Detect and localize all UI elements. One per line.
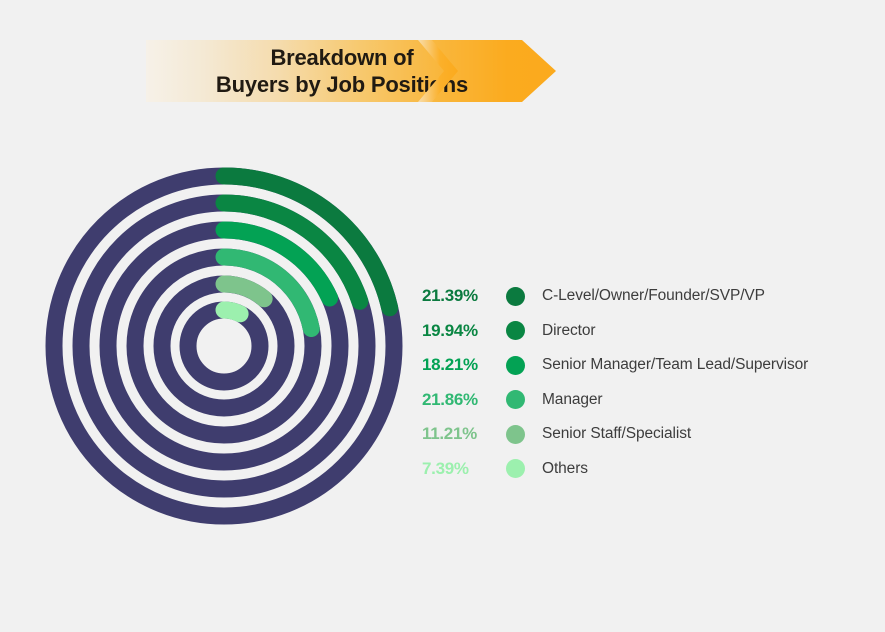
double-chevron-right-icon: [418, 40, 458, 102]
legend-percentage: 11.21%: [422, 424, 498, 444]
legend-percentage: 18.21%: [422, 355, 498, 375]
radial-track-5: [188, 310, 260, 382]
chevron-shape: [418, 40, 458, 102]
legend-item: 18.21%Senior Manager/Team Lead/Superviso…: [422, 348, 872, 383]
legend-percentage: 21.86%: [422, 390, 498, 410]
title-banner: Breakdown of Buyers by Job Positions: [146, 40, 556, 102]
legend-color-dot-icon: [506, 287, 525, 306]
legend-percentage: 7.39%: [422, 459, 498, 479]
title-banner-background: [146, 40, 556, 102]
legend-label: Manager: [542, 391, 602, 409]
legend-item: 19.94%Director: [422, 314, 872, 349]
legend-color-dot-icon: [506, 425, 525, 444]
radial-bar-chart: [36, 158, 412, 534]
legend-label: Director: [542, 322, 595, 340]
radial-bar-4: [224, 284, 264, 299]
legend-percentage: 21.39%: [422, 286, 498, 306]
legend-color-dot-icon: [506, 459, 525, 478]
legend-item: 21.86%Manager: [422, 383, 872, 418]
legend-item: 11.21%Senior Staff/Specialist: [422, 417, 872, 452]
chart-legend: 21.39%C-Level/Owner/Founder/SVP/VP19.94%…: [422, 279, 872, 486]
legend-color-dot-icon: [506, 390, 525, 409]
radial-bar-5: [224, 310, 240, 314]
legend-color-dot-icon: [506, 321, 525, 340]
legend-label: Others: [542, 460, 588, 478]
legend-label: C-Level/Owner/Founder/SVP/VP: [542, 287, 765, 305]
legend-label: Senior Manager/Team Lead/Supervisor: [542, 356, 808, 374]
legend-item: 21.39%C-Level/Owner/Founder/SVP/VP: [422, 279, 872, 314]
legend-label: Senior Staff/Specialist: [542, 425, 691, 443]
legend-item: 7.39%Others: [422, 452, 872, 487]
radial-bar-chart-svg: [36, 158, 412, 534]
legend-percentage: 19.94%: [422, 321, 498, 341]
legend-color-dot-icon: [506, 356, 525, 375]
